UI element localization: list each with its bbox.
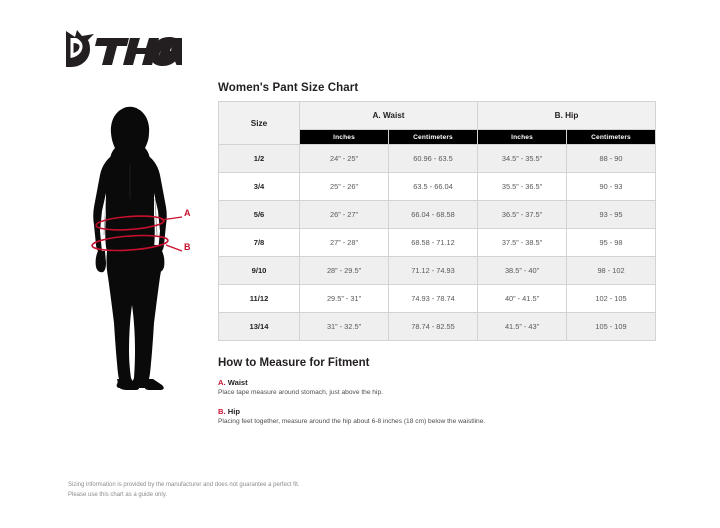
cell-hip-inches: 37.5” - 38.5” [478,229,567,257]
cell-waist-inches: 31” - 32.5” [300,313,389,341]
disclaimer-line-2: Please use this chart as a guide only. [68,491,299,501]
cell-hip-cm: 98 - 102 [567,257,656,285]
cell-waist-inches: 28” - 29.5” [300,257,389,285]
thor-logo: ™ [62,26,182,72]
cell-hip-cm: 93 - 95 [567,201,656,229]
measure-name-hip: Hip [228,407,240,416]
cell-size: 5/6 [219,201,300,229]
leader-line-b [166,245,182,251]
figure-label-a: A [184,208,191,218]
disclaimer-line-1: Sizing information is provided by the ma… [68,481,299,491]
figure-label-b: B [184,242,191,252]
cell-hip-cm: 90 - 93 [567,173,656,201]
table-row: 7/8 27” - 28” 68.58 - 71.12 37.5” - 38.5… [219,229,656,257]
cell-size: 7/8 [219,229,300,257]
size-chart-table: Size A. Waist B. Hip Inches Centimeters … [218,101,656,341]
measure-item-waist: A. Waist Place tape measure around stoma… [218,378,658,398]
size-chart-page: ™ [0,0,720,528]
cell-waist-cm: 68.58 - 71.12 [389,229,478,257]
cell-size: 9/10 [219,257,300,285]
cell-hip-cm: 105 - 109 [567,313,656,341]
table-header-groups: Size A. Waist B. Hip [219,102,656,130]
measure-label-waist: A. Waist [218,378,658,387]
cell-waist-inches: 27” - 28” [300,229,389,257]
cell-size: 3/4 [219,173,300,201]
cell-hip-inches: 41.5” - 43” [478,313,567,341]
table-row: 1/2 24” - 25” 60.96 - 63.5 34.5” - 35.5”… [219,145,656,173]
woman-silhouette [93,107,167,390]
table-row: 3/4 25” - 26” 63.5 - 66.04 35.5” - 36.5”… [219,173,656,201]
measure-marker-b: B. [218,407,226,416]
table-row: 11/12 29.5” - 31” 74.93 - 78.74 40” - 41… [219,285,656,313]
cell-size: 1/2 [219,145,300,173]
header-waist-centimeters: Centimeters [389,130,478,145]
cell-waist-inches: 24” - 25” [300,145,389,173]
header-hip-centimeters: Centimeters [567,130,656,145]
measure-text-hip: Placing feet together, measure around th… [218,418,658,427]
cell-hip-cm: 95 - 98 [567,229,656,257]
cell-waist-cm: 78.74 - 82.55 [389,313,478,341]
cell-waist-inches: 25” - 26” [300,173,389,201]
measure-item-hip: B. Hip Placing feet together, measure ar… [218,407,658,427]
cell-waist-cm: 63.5 - 66.04 [389,173,478,201]
measure-name-waist: Waist [228,378,248,387]
cell-hip-inches: 34.5” - 35.5” [478,145,567,173]
cell-hip-cm: 88 - 90 [567,145,656,173]
cell-hip-inches: 38.5” - 40” [478,257,567,285]
cell-size: 11/12 [219,285,300,313]
chart-content: Women's Pant Size Chart Size A. Waist B.… [218,82,658,436]
table-row: 9/10 28” - 29.5” 71.12 - 74.93 38.5” - 4… [219,257,656,285]
measure-label-hip: B. Hip [218,407,658,416]
cell-waist-cm: 60.96 - 63.5 [389,145,478,173]
cell-waist-inches: 29.5” - 31” [300,285,389,313]
header-group-hip: B. Hip [478,102,656,130]
cell-waist-cm: 66.04 - 68.58 [389,201,478,229]
cell-waist-cm: 71.12 - 74.93 [389,257,478,285]
cell-hip-cm: 102 - 105 [567,285,656,313]
header-hip-inches: Inches [478,130,567,145]
measure-text-waist: Place tape measure around stomach, just … [218,389,658,398]
table-row: 13/14 31” - 32.5” 78.74 - 82.55 41.5” - … [219,313,656,341]
disclaimer: Sizing information is provided by the ma… [68,481,299,501]
cell-hip-inches: 40” - 41.5” [478,285,567,313]
cell-hip-inches: 36.5” - 37.5” [478,201,567,229]
cell-hip-inches: 35.5” - 36.5” [478,173,567,201]
measure-marker-a: A. [218,378,226,387]
svg-text:™: ™ [178,60,182,65]
how-to-measure-section: How to Measure for Fitment A. Waist Plac… [218,357,658,427]
cell-size: 13/14 [219,313,300,341]
how-to-measure-title: How to Measure for Fitment [218,357,658,369]
header-waist-inches: Inches [300,130,389,145]
header-size: Size [219,102,300,145]
cell-waist-cm: 74.93 - 78.74 [389,285,478,313]
table-body: 1/2 24” - 25” 60.96 - 63.5 34.5” - 35.5”… [219,145,656,341]
page-title: Women's Pant Size Chart [218,82,658,94]
cell-waist-inches: 26” - 27” [300,201,389,229]
measurement-figure: A B [60,95,210,395]
header-group-waist: A. Waist [300,102,478,130]
table-row: 5/6 26” - 27” 66.04 - 68.58 36.5” - 37.5… [219,201,656,229]
